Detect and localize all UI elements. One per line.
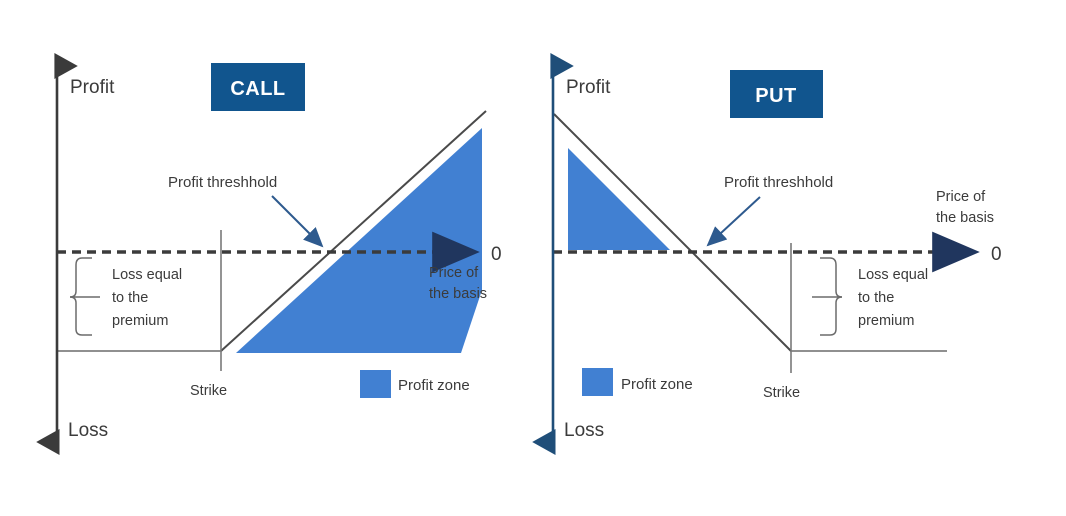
put-threshold-label: Profit threshhold <box>724 174 833 191</box>
put-legend-swatch <box>582 368 613 396</box>
call-profit-zone-area <box>236 128 482 353</box>
put-premium-label-line2: to the <box>858 290 894 306</box>
put-xaxis-label-line2: the basis <box>936 210 994 226</box>
put-origin-label: 0 <box>991 244 1002 265</box>
call-origin-label: 0 <box>491 244 502 265</box>
put-badge-label: PUT <box>755 85 797 107</box>
put-strike-label: Strike <box>763 385 800 401</box>
put-legend-label: Profit zone <box>621 376 693 393</box>
call-threshold-label: Profit threshhold <box>168 174 277 191</box>
call-profit-axis-label: Profit <box>70 77 115 98</box>
call-xaxis-label-line2: the basis <box>429 286 487 302</box>
call-chart: Profit Loss Profit threshhold Loss equal… <box>0 0 1066 516</box>
put-premium-label-line1: Loss equal <box>858 267 928 283</box>
call-legend-swatch <box>360 370 391 398</box>
put-profit-axis-label: Profit <box>566 77 611 98</box>
put-premium-label-line3: premium <box>858 313 914 329</box>
call-badge-label: CALL <box>230 78 285 100</box>
put-threshold-annotation-arrow <box>708 197 760 245</box>
call-strike-label: Strike <box>190 383 227 399</box>
call-xaxis-label-line1: Price of <box>429 265 479 281</box>
call-premium-label-line1: Loss equal <box>112 267 182 283</box>
call-premium-label-line3: premium <box>112 313 168 329</box>
call-legend-label: Profit zone <box>398 377 470 394</box>
call-threshold-annotation-arrow <box>272 196 322 246</box>
call-loss-axis-label: Loss <box>68 420 108 441</box>
call-premium-label-line2: to the <box>112 290 148 306</box>
diagram-canvas: Profit Loss Profit threshhold Loss equal… <box>0 0 1066 516</box>
put-xaxis-label-line1: Price of <box>936 189 986 205</box>
put-loss-axis-label: Loss <box>564 420 604 441</box>
put-profit-zone-area <box>568 148 670 250</box>
